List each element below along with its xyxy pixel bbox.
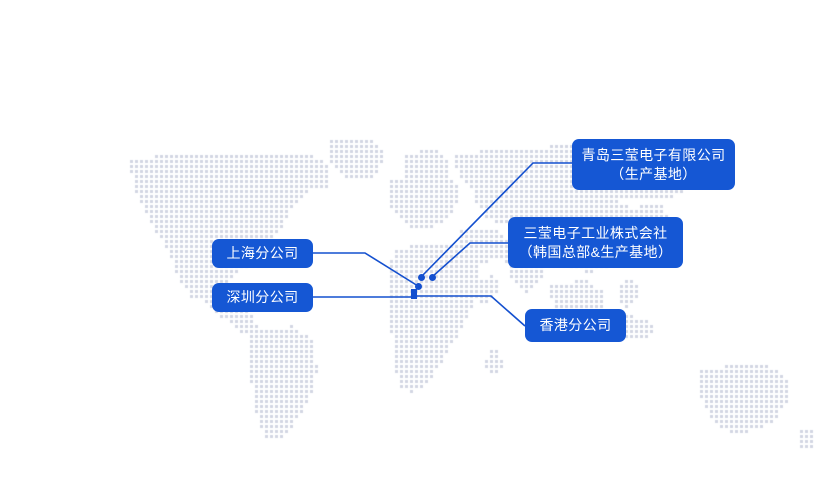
- label-shanghai-line-1: 上海分公司: [227, 244, 299, 262]
- label-korea-headquarters-line-1: 三莹电子工业株式会社: [524, 224, 668, 242]
- label-shenzhen[interactable]: 深圳分公司: [212, 283, 313, 312]
- world-map-canvas: [0, 0, 824, 480]
- marker-korea[interactable]: [429, 274, 436, 281]
- label-shenzhen-line-1: 深圳分公司: [227, 288, 299, 306]
- world-map-locations-infographic: 青岛三莹电子有限公司（生产基地）三莹电子工业株式会社（韩国总部&生产基地）上海分…: [0, 0, 824, 480]
- marker-shenzhen[interactable]: [411, 289, 417, 299]
- label-shanghai[interactable]: 上海分公司: [212, 239, 313, 268]
- label-qingdao-line-1: 青岛三莹电子有限公司: [582, 146, 726, 164]
- label-korea-headquarters[interactable]: 三莹电子工业株式会社（韩国总部&生产基地）: [508, 217, 683, 268]
- label-qingdao-line-2: （生产基地）: [610, 165, 696, 183]
- label-korea-headquarters-line-2: （韩国总部&生产基地）: [519, 243, 673, 261]
- label-hongkong[interactable]: 香港分公司: [525, 309, 626, 342]
- dotted-world-map: [0, 0, 824, 480]
- label-qingdao[interactable]: 青岛三莹电子有限公司（生产基地）: [572, 139, 735, 190]
- label-hongkong-line-1: 香港分公司: [540, 316, 612, 334]
- marker-qingdao[interactable]: [418, 274, 425, 281]
